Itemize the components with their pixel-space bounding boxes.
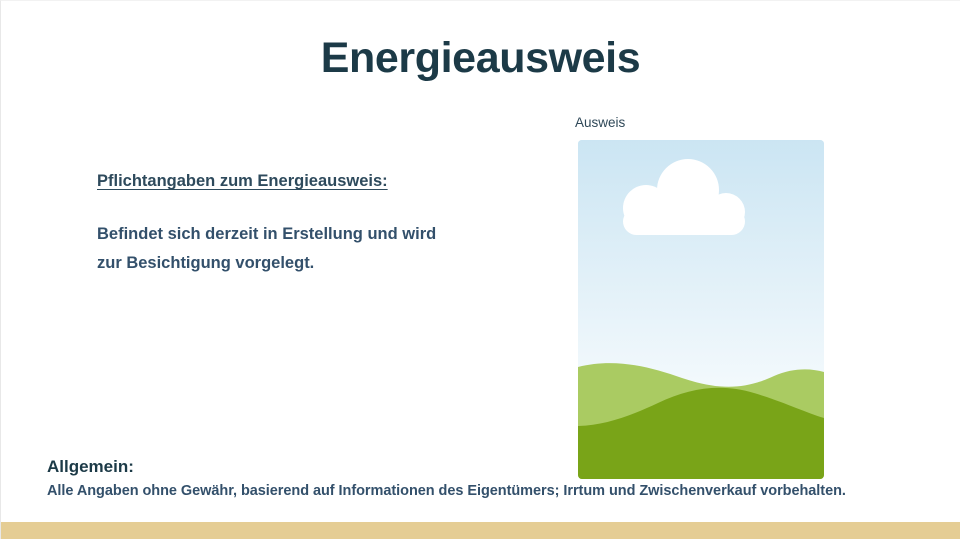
page-title: Energieausweis bbox=[1, 35, 960, 82]
general-heading: Allgemein: bbox=[47, 456, 930, 478]
mandatory-info-body: Befindet sich derzeit in Erstellung und … bbox=[97, 220, 442, 277]
details-column: Pflichtangaben zum Energieausweis: Befin… bbox=[97, 171, 537, 277]
accent-bar bbox=[1, 522, 960, 539]
footer-block: Allgemein: Alle Angaben ohne Gewähr, bas… bbox=[47, 456, 930, 501]
certificate-image bbox=[578, 140, 824, 479]
disclaimer-text: Alle Angaben ohne Gewähr, basierend auf … bbox=[47, 481, 930, 501]
image-caption-label: Ausweis bbox=[575, 115, 625, 130]
slide-canvas: Energieausweis Pflichtangaben zum Energi… bbox=[0, 0, 960, 539]
landscape-placeholder-icon bbox=[578, 140, 824, 479]
mandatory-info-heading: Pflichtangaben zum Energieausweis: bbox=[97, 171, 537, 192]
